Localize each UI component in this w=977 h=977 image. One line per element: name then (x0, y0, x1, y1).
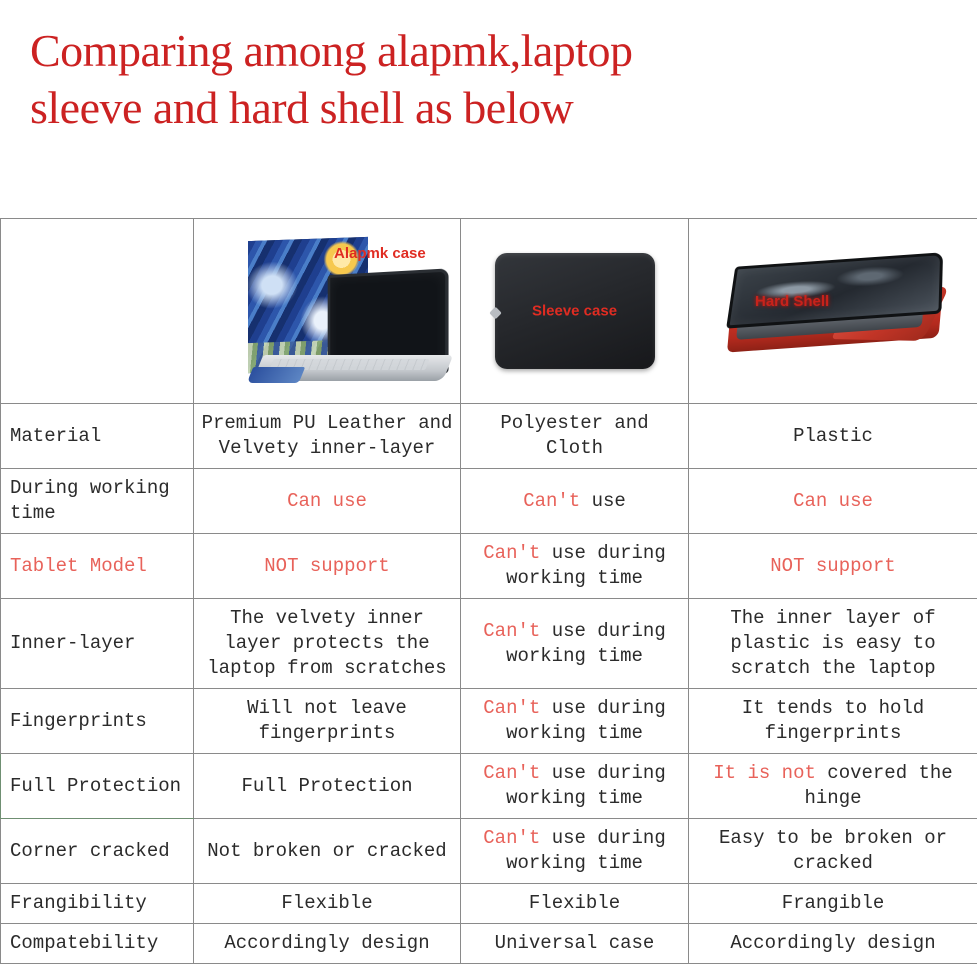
cell-material-alapmk: Premium PU Leather and Velvety inner-lay… (194, 404, 461, 469)
cell-frangibility-hardshell: Frangible (689, 884, 977, 924)
cell-text: Not broken or cracked (207, 840, 446, 862)
table-row-highlighted: Full Protection Full Protection Can't us… (1, 754, 977, 819)
cell-tablet-hardshell: NOT support (689, 534, 977, 599)
product-label-hardshell: Hard Shell (755, 289, 829, 314)
comparison-table-container: Alapmk case Sleeve case (0, 218, 977, 964)
cell-text: Flexible (529, 892, 620, 914)
cell-inner-hardshell: The inner layer of plastic is easy to sc… (689, 599, 977, 689)
row-label-frangibility: Frangibility (1, 884, 194, 924)
cell-protection-alapmk: Full Protection (194, 754, 461, 819)
row-label-during-working-time: During working time (1, 469, 194, 534)
cell-text: use (580, 490, 626, 512)
cell-text: The inner layer of plastic is easy to sc… (730, 607, 935, 679)
cell-working-alapmk: Can use (194, 469, 461, 534)
cell-text: Flexible (281, 892, 372, 914)
sleeve-zipper-pull (489, 307, 502, 320)
cell-text: Full Protection (241, 775, 412, 797)
cell-text: It tends to hold fingerprints (742, 697, 924, 744)
table-row: Compatebility Accordingly design Univers… (1, 924, 977, 964)
cell-text: The velvety inner layer protects the lap… (207, 607, 446, 679)
cell-text: Plastic (793, 425, 873, 447)
page-title: Comparing among alapmk,laptop sleeve and… (0, 0, 977, 136)
cell-working-hardshell: Can use (689, 469, 977, 534)
cell-compatebility-hardshell: Accordingly design (689, 924, 977, 964)
cell-corner-hardshell: Easy to be broken or cracked (689, 819, 977, 884)
cell-text-red: Can't (483, 827, 540, 849)
table-row: Corner cracked Not broken or cracked Can… (1, 819, 977, 884)
tablet-assembly (718, 247, 947, 374)
cell-fingerprints-hardshell: It tends to hold fingerprints (689, 689, 977, 754)
cell-compatebility-alapmk: Accordingly design (194, 924, 461, 964)
cell-text-red: Can't (483, 697, 540, 719)
cell-text: Frangible (782, 892, 885, 914)
cell-inner-alapmk: The velvety inner layer protects the lap… (194, 599, 461, 689)
cell-protection-sleeve: Can't use during working time (461, 754, 689, 819)
cell-frangibility-alapmk: Flexible (194, 884, 461, 924)
cell-text-red: NOT support (264, 555, 389, 577)
cell-corner-alapmk: Not broken or cracked (194, 819, 461, 884)
cell-text-red: Can't (483, 542, 540, 564)
table-row: Material Premium PU Leather and Velvety … (1, 404, 977, 469)
page-title-line-1: Comparing among alapmk,laptop (30, 22, 977, 79)
cell-text-red: Can't (523, 490, 580, 512)
cell-frangibility-sleeve: Flexible (461, 884, 689, 924)
cell-text: Will not leave fingerprints (247, 697, 407, 744)
cell-corner-sleeve: Can't use during working time (461, 819, 689, 884)
row-label-inner-layer: Inner-layer (1, 599, 194, 689)
cell-material-sleeve: Polyester and Cloth (461, 404, 689, 469)
laptop-case-trim (247, 367, 305, 383)
cell-inner-sleeve: Can't use during working time (461, 599, 689, 689)
cell-fingerprints-sleeve: Can't use during working time (461, 689, 689, 754)
table-row: Tablet Model NOT support Can't use durin… (1, 534, 977, 599)
cell-compatebility-sleeve: Universal case (461, 924, 689, 964)
cell-text-red: Can use (793, 490, 873, 512)
cell-text-red: It is not (713, 762, 816, 784)
cell-text: Easy to be broken or cracked (719, 827, 947, 874)
cell-protection-hardshell: It is not covered the hinge (689, 754, 977, 819)
row-label-corner-cracked: Corner cracked (1, 819, 194, 884)
header-cell-sleeve: Sleeve case (461, 219, 689, 404)
table-row: Fingerprints Will not leave fingerprints… (1, 689, 977, 754)
cell-text-red: Can use (287, 490, 367, 512)
tablet-with-red-hard-shell-photo: Hard Shell (695, 227, 971, 395)
cell-text: Universal case (495, 932, 655, 954)
product-label-alapmk: Alapmk case (334, 241, 426, 266)
cell-text-red: Can't (483, 620, 540, 642)
row-label-tablet-model: Tablet Model (1, 534, 194, 599)
header-cell-hardshell: Hard Shell (689, 219, 977, 404)
laptop-with-starry-night-case-photo: Alapmk case (200, 227, 454, 395)
cell-text: covered the hinge (804, 762, 952, 809)
header-blank-cell (1, 219, 194, 404)
cell-material-hardshell: Plastic (689, 404, 977, 469)
comparison-table: Alapmk case Sleeve case (0, 218, 977, 964)
cell-text: Polyester and Cloth (500, 412, 648, 459)
row-label-compatebility: Compatebility (1, 924, 194, 964)
cell-tablet-alapmk: NOT support (194, 534, 461, 599)
cell-fingerprints-alapmk: Will not leave fingerprints (194, 689, 461, 754)
row-label-full-protection: Full Protection (1, 754, 194, 819)
cell-text: Accordingly design (224, 932, 429, 954)
cell-text-red: Can't (483, 762, 540, 784)
table-row: Frangibility Flexible Flexible Frangible (1, 884, 977, 924)
cell-text-red: NOT support (770, 555, 895, 577)
black-sleeve-case-photo: Sleeve case (467, 227, 682, 395)
cell-text: Accordingly design (730, 932, 935, 954)
cell-text: Premium PU Leather and Velvety inner-lay… (202, 412, 453, 459)
table-row: Inner-layer The velvety inner layer prot… (1, 599, 977, 689)
product-label-sleeve: Sleeve case (532, 299, 617, 324)
page-title-line-2: sleeve and hard shell as below (30, 79, 977, 136)
table-row: During working time Can use Can't use Ca… (1, 469, 977, 534)
cell-working-sleeve: Can't use (461, 469, 689, 534)
cell-tablet-sleeve: Can't use during working time (461, 534, 689, 599)
row-label-material: Material (1, 404, 194, 469)
header-cell-alapmk: Alapmk case (194, 219, 461, 404)
row-label-fingerprints: Fingerprints (1, 689, 194, 754)
comparison-table-body: Alapmk case Sleeve case (1, 219, 977, 964)
table-header-row: Alapmk case Sleeve case (1, 219, 977, 404)
